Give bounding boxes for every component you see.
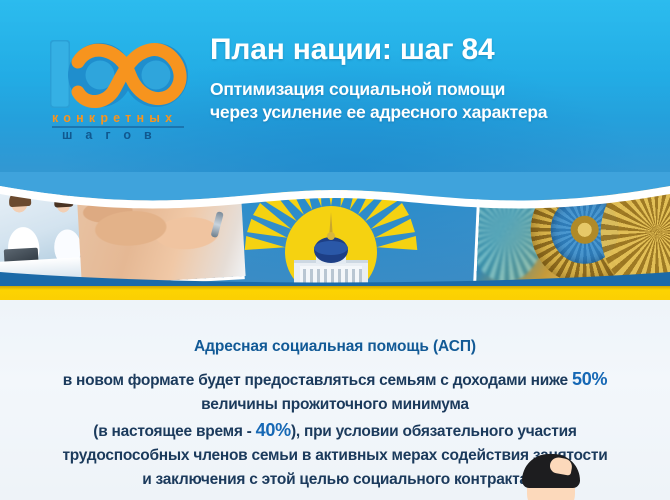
logo-graphic: конкретных шагов: [44, 32, 196, 140]
logo-word-top: конкретных: [52, 111, 177, 125]
photo-golden-emblem: [476, 172, 670, 290]
kazakhstan-sun-emblem: [228, 172, 434, 290]
helping-hands-image: [76, 172, 246, 285]
sun-and-palace-graphic: [228, 172, 434, 290]
operator-hair-front: [9, 190, 32, 207]
body-line-2: величины прожиточного минимума: [8, 393, 662, 417]
body-text-segment: (в настоящее время -: [93, 423, 255, 440]
yellow-band-top-shadow: [0, 286, 670, 290]
page-title: План нации: шаг 84: [210, 33, 662, 66]
cartoon-person-head-icon: [520, 454, 582, 500]
body-line-3: (в настоящее время - 40%), при условии о…: [8, 417, 662, 444]
body-text-segment: величины прожиточного минимума: [201, 396, 469, 413]
title-block: План нации: шаг 84 Оптимизация социально…: [210, 33, 662, 124]
lead-text: Адресная социальная помощь (АСП): [8, 338, 662, 356]
logo-100-concrete-steps: конкретных шагов: [44, 32, 196, 140]
subtitle-line-1: Оптимизация социальной помощи: [210, 78, 662, 101]
highlight-value: 40%: [256, 420, 291, 440]
body-line-1: в новом формате будет предоставляться се…: [8, 366, 662, 393]
photo-collage-band: [0, 172, 670, 290]
photo-call-center-and-hands: [0, 172, 242, 290]
logo-word-bottom: шагов: [62, 128, 165, 140]
body-text-segment: ), при условии обязательного участия: [291, 423, 577, 440]
wrist-bracelet: [210, 211, 223, 238]
body-text-segment: в новом формате будет предоставляться се…: [63, 372, 572, 389]
body-text-segment: и заключения с этой целью социального ко…: [142, 471, 528, 488]
operator-hair-back: [54, 194, 74, 208]
highlight-value: 50%: [572, 369, 607, 389]
infographic-poster: конкретных шагов План нации: шаг 84 Опти…: [0, 0, 670, 500]
subtitle-line-2: через усиление ее адресного характера: [210, 101, 662, 124]
